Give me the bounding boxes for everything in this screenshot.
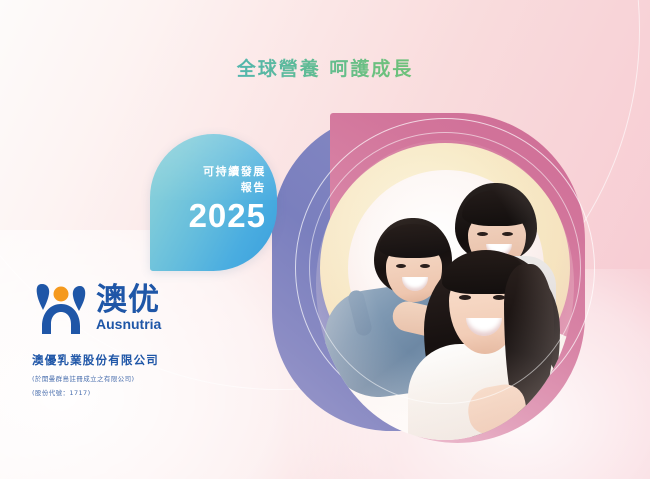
logo-name-en: Ausnutria xyxy=(96,316,161,332)
family-photo-content xyxy=(316,140,574,440)
company-name: 澳優乳業股份有限公司 xyxy=(32,352,252,368)
logo-row: 澳优 Ausnutria xyxy=(32,280,252,336)
logo-left-arm xyxy=(37,284,50,310)
report-cover: 全球營養 呵護成長 xyxy=(0,0,650,479)
logo-wordmark: 澳优 Ausnutria xyxy=(96,284,161,332)
logo-mark-svg xyxy=(32,280,90,336)
logo-right-arm xyxy=(73,286,85,311)
cover-artwork: 可持續發展 報告 2025 xyxy=(0,0,650,479)
company-incorporation-note: (於開曼群島註冊成立之有限公司) xyxy=(32,373,252,383)
photo-color-tint xyxy=(316,140,574,440)
company-stock-code: (股份代號：1717) xyxy=(32,387,252,397)
logo-body-arch xyxy=(42,304,80,334)
logo-head-dot xyxy=(54,287,69,302)
company-logo-block: 澳优 Ausnutria 澳優乳業股份有限公司 (於開曼群島註冊成立之有限公司)… xyxy=(32,280,252,397)
ausnutria-figure-icon xyxy=(32,280,90,336)
badge-year: 2025 xyxy=(189,198,266,234)
sustainability-report-badge: 可持續發展 報告 2025 xyxy=(150,134,277,271)
badge-line-1: 可持續發展 xyxy=(189,164,266,180)
badge-text-group: 可持續發展 報告 2025 xyxy=(189,164,266,234)
logo-name-cn: 澳优 xyxy=(96,284,161,317)
family-photo xyxy=(316,140,574,440)
badge-line-2: 報告 xyxy=(189,180,266,196)
